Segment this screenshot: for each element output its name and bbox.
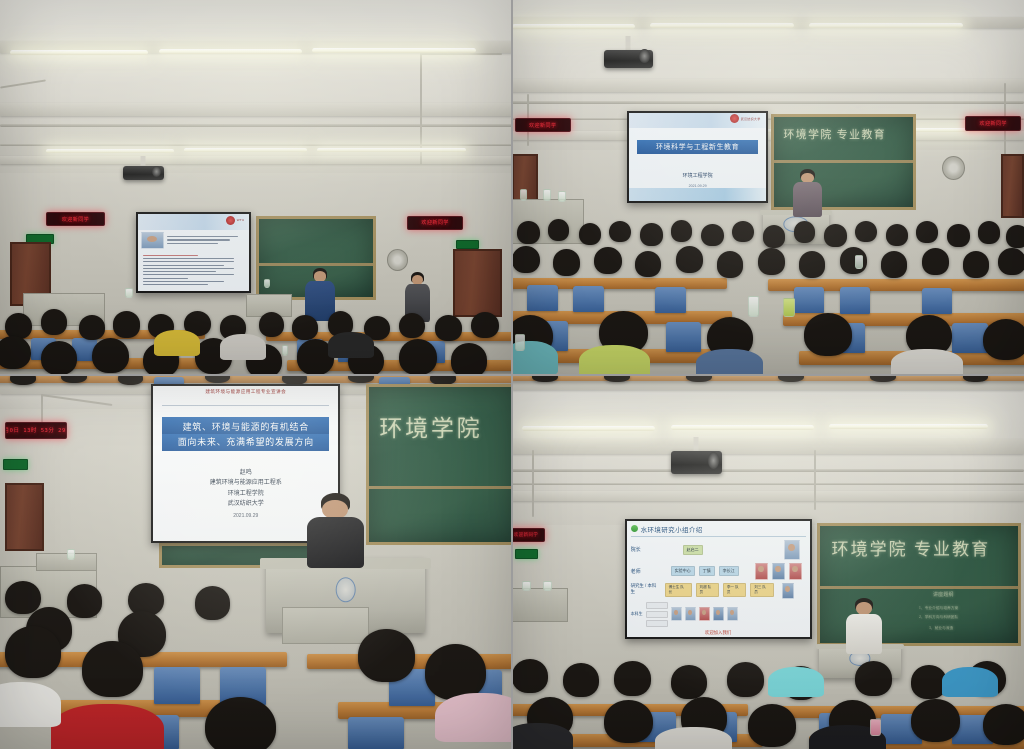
podium-base <box>282 607 369 644</box>
slide-presenter: 赵鸣 <box>153 468 338 479</box>
photo-panel-bottom-left: 1月0日 13时 53分 29秒 环境学院 建筑环境与能源应用工程专业宣讲会 建… <box>0 375 512 749</box>
projection-screen: 武汉纺织大学 环境科学与工程新生教育 环境工程学院 2021.09.29 <box>627 111 768 203</box>
collage-seam-horizontal <box>0 374 1024 376</box>
slide-department: 建筑环境与能源应用工程系 <box>153 478 338 489</box>
slide-subtitle: 环境工程学院 <box>629 172 766 179</box>
slide-top-left: WTU <box>138 214 249 291</box>
bullet-icon <box>631 525 638 532</box>
led-sign-left: 欢迎新同学 <box>512 528 545 541</box>
slide-title: 环境科学与工程新生教育 <box>637 140 757 154</box>
slide-date: 2021.09.29 <box>629 184 766 188</box>
projector <box>671 437 722 474</box>
side-cabinet <box>512 588 568 622</box>
presenter <box>845 598 883 654</box>
projector <box>604 36 653 68</box>
projection-screen: WTU <box>136 212 251 293</box>
org-chip: 刘超 队员 <box>696 583 719 597</box>
org-chip: 刘三 队员 <box>750 583 773 597</box>
wall-fan <box>387 249 409 271</box>
led-clock-sign: 1月0日 13时 53分 29秒 <box>5 422 66 439</box>
org-row-label: 研究生 / 本科生 <box>631 583 661 594</box>
led-sign-right: 欢迎新同学 <box>965 116 1021 130</box>
led-sign-left: 欢迎新同学 <box>46 212 105 226</box>
slide-bottom-right: 水环境研究小组介绍 院长 赵启二 老师 实验中心 丁镇 <box>627 521 810 637</box>
photo-collage: 欢迎新同学 欢迎新同学 WTU <box>0 0 1024 749</box>
slide-footer-note: 欢迎加入我们 <box>631 630 806 636</box>
projector <box>123 156 164 180</box>
slide-title: 水环境研究小组介绍 <box>641 524 703 534</box>
slide-top-right: 武汉纺织大学 环境科学与工程新生教育 环境工程学院 2021.09.29 <box>629 113 766 201</box>
slide-header-strip: 建筑环境与能源应用工程专业宣讲会 <box>164 389 327 395</box>
led-sign-right: 欢迎新同学 <box>407 216 463 230</box>
org-chip: 赵启二 <box>683 545 703 555</box>
blackboard: 环境学院 <box>366 384 512 545</box>
presenter <box>791 169 824 218</box>
org-chip: 李长江 <box>719 566 739 576</box>
photo-panel-bottom-right: 欢迎新同学 环境学院 专业教育 讲座题纲 1、专业介绍与培养方案 2、学科方向与… <box>512 375 1024 749</box>
photo-panel-top-left: 欢迎新同学 欢迎新同学 WTU <box>0 0 512 375</box>
slide-title-line-2: 面向未来、充满希望的发展方向 <box>162 434 329 451</box>
door-right <box>1001 154 1024 218</box>
org-chip: 博士生 队长 <box>665 583 692 597</box>
slide-title-line-1: 建筑、环境与能源的有机结合 <box>162 417 329 434</box>
projection-screen: 水环境研究小组介绍 院长 赵启二 老师 实验中心 丁镇 <box>625 519 812 639</box>
led-sign-left: 欢迎新同学 <box>515 118 571 132</box>
exit-sign-right <box>456 240 479 249</box>
door-left <box>5 483 43 550</box>
org-chip: 丁镇 <box>699 566 715 576</box>
door-right <box>453 249 502 317</box>
exit-sign <box>3 459 29 470</box>
photo-panel-top-right: 欢迎新同学 欢迎新同学 环境学院 专业教育 武汉纺织大学 <box>512 0 1024 375</box>
org-chip: 李一 队员 <box>723 583 746 597</box>
org-row-label: 老师 <box>631 568 653 575</box>
wall-fan <box>942 156 965 180</box>
speaker <box>307 493 363 568</box>
org-chip: 实验中心 <box>671 566 695 576</box>
org-row-label: 院长 <box>631 546 653 553</box>
exit-sign <box>515 549 538 559</box>
